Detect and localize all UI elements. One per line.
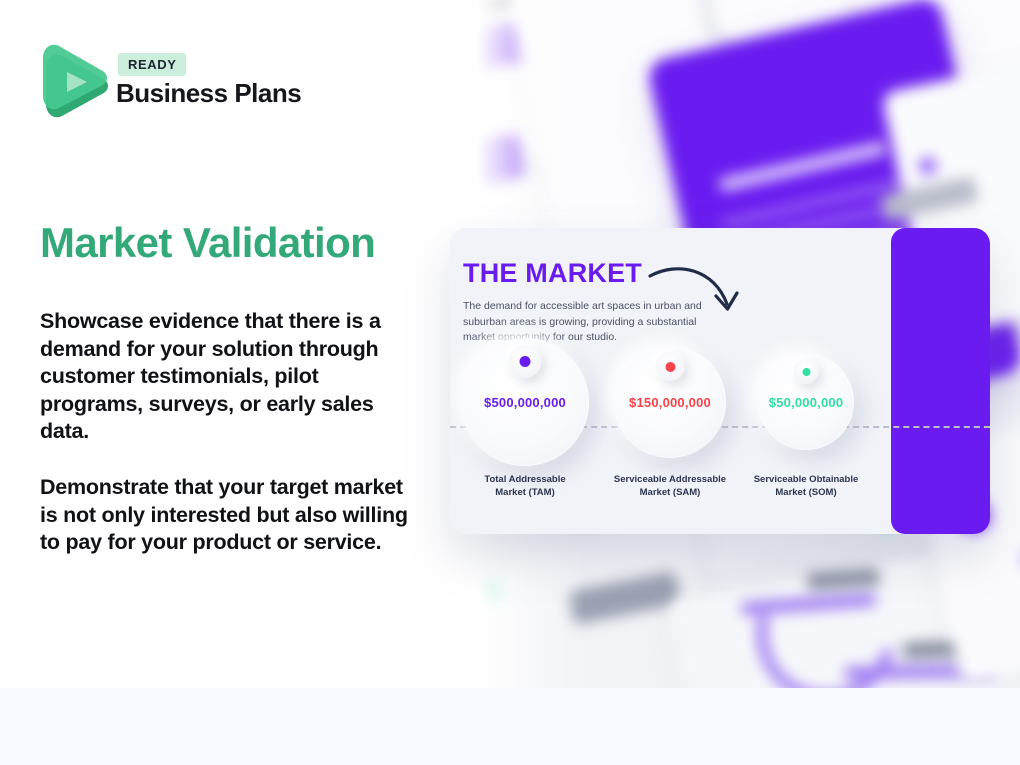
play-triangle-logo xyxy=(42,40,110,125)
metric-knob-som xyxy=(794,359,819,384)
metric-knob-tam xyxy=(509,345,542,378)
brand-name: Business Plans xyxy=(116,78,301,109)
metric-label-line2: Market (SAM) xyxy=(640,487,701,498)
metric-som[interactable]: $50,000,000 Serviceable Obtainable Marke… xyxy=(747,354,865,450)
metric-label-line1: Serviceable Addressable xyxy=(614,474,726,485)
metric-label-tam: Total Addressable Market (TAM) xyxy=(460,473,590,499)
slide-accent-block xyxy=(891,228,990,534)
metric-value-sam: $150,000,000 xyxy=(608,395,732,410)
metric-label-line2: Market (SOM) xyxy=(775,487,836,498)
logo-icon xyxy=(42,40,110,120)
body-paragraph-1: Showcase evidence that there is a demand… xyxy=(40,308,422,446)
metric-sam[interactable]: $150,000,000 Serviceable Addressable Mar… xyxy=(608,346,732,458)
metric-dot-som xyxy=(802,368,810,376)
metric-label-line1: Serviceable Obtainable xyxy=(754,474,859,485)
body-paragraph-2: Demonstrate that your target market is n… xyxy=(40,474,422,557)
metric-tam[interactable]: $500,000,000 Total Addressable Market (T… xyxy=(460,338,590,466)
metric-label-som: Serviceable Obtainable Market (SOM) xyxy=(747,473,865,499)
metric-knob-sam xyxy=(656,352,685,381)
metric-label-line2: Market (TAM) xyxy=(495,487,554,498)
metric-label-sam: Serviceable Addressable Market (SAM) xyxy=(608,473,732,499)
market-slide-card[interactable]: THE MARKET The demand for accessible art… xyxy=(450,228,990,534)
ready-badge: READY xyxy=(118,53,186,76)
metric-dot-tam xyxy=(520,356,531,367)
slide-canvas: THE MARKET The demand for accessible art… xyxy=(0,0,1020,765)
market-metrics-group: $500,000,000 Total Addressable Market (T… xyxy=(450,228,890,534)
metric-value-som: $50,000,000 xyxy=(747,395,865,410)
metric-dot-sam xyxy=(665,362,675,372)
metric-value-tam: $500,000,000 xyxy=(460,395,590,410)
page-title: Market Validation xyxy=(40,219,375,267)
decor-dot xyxy=(918,156,938,176)
bottom-band xyxy=(0,688,1020,765)
decor-line xyxy=(719,141,888,192)
metric-label-line1: Total Addressable xyxy=(484,474,565,485)
